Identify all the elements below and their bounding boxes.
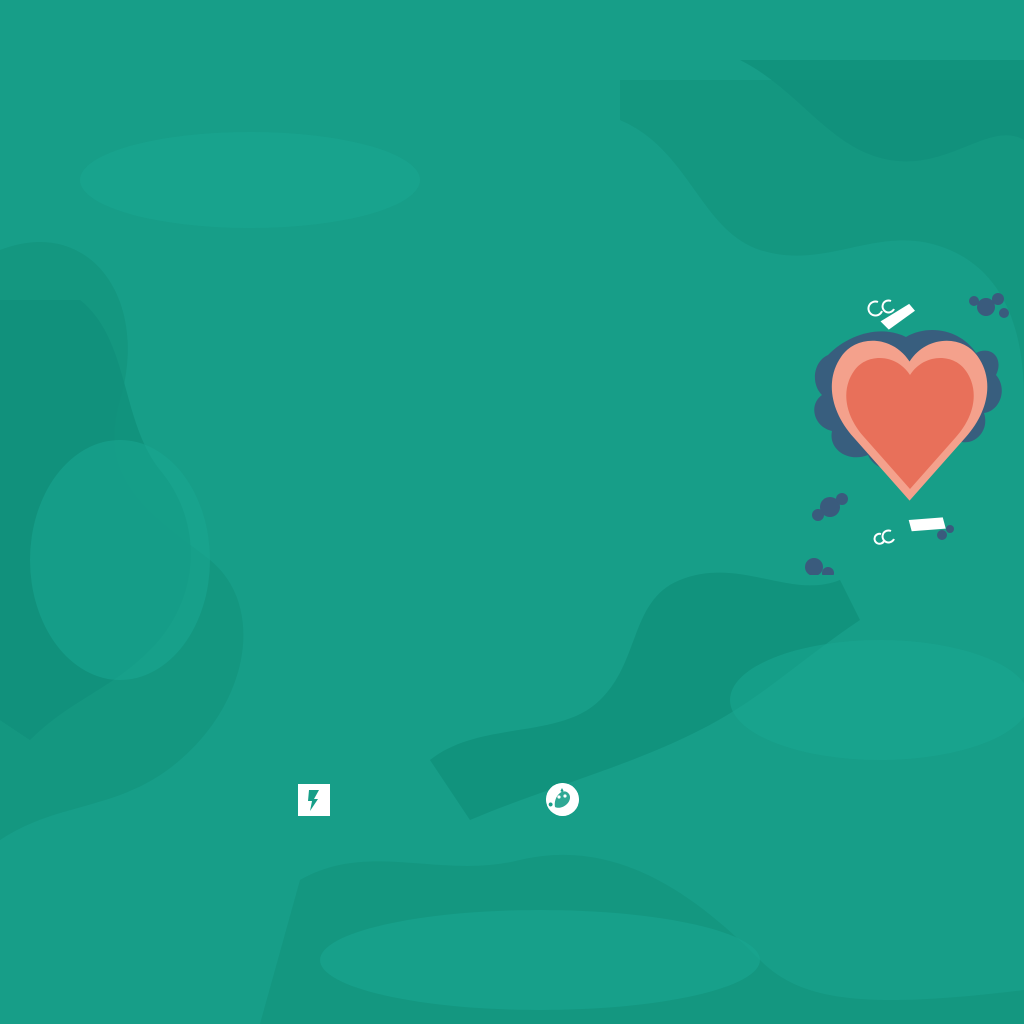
poster-canvas	[0, 0, 1024, 1024]
island-inner	[846, 358, 973, 489]
heart-reef-artwork	[790, 285, 1024, 575]
boat-icon-top	[868, 300, 917, 331]
brain-aha-logo-icon	[546, 783, 579, 816]
brand-brain-aha[interactable]	[546, 783, 589, 816]
brand-key-kobo[interactable]	[298, 784, 340, 816]
boat-icon-bottom	[875, 509, 949, 544]
footer	[0, 780, 1024, 824]
key-kobo-logo-icon	[298, 784, 330, 816]
